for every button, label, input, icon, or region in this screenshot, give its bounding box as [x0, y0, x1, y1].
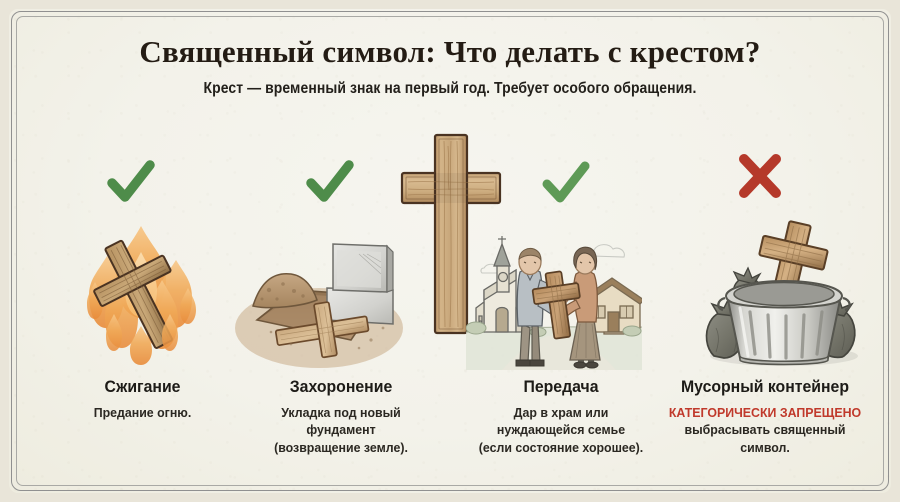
x-mark-icon [733, 150, 787, 202]
option-body: Предание огню. [47, 404, 238, 422]
trash-can-icon [692, 216, 868, 370]
option-heading: Передача [463, 378, 658, 397]
poster-header: Священный символ: Что делать с крестом? … [0, 36, 900, 98]
option-caption-handover: Передача Дар в храм или нуждающейся семь… [456, 378, 666, 457]
option-body: Дар в храм или нуждающейся семье (если с… [463, 404, 658, 457]
caption-line: выбрасывать священный [684, 422, 845, 437]
burning-cross-icon [62, 218, 220, 368]
check-icon [303, 156, 357, 208]
caption-line: Укладка под новый [281, 405, 401, 420]
infographic-poster: Священный символ: Что делать с крестом? … [0, 0, 900, 502]
caption-line: фундамент [306, 422, 375, 437]
prohibition-warning: КАТЕГОРИЧЕСКИ ЗАПРЕЩЕНО [658, 404, 872, 422]
caption-line: Дар в храм или [514, 405, 609, 420]
cross-handover-icon [466, 228, 642, 370]
page-subtitle: Крест — временный знак на первый год. Тр… [45, 80, 855, 98]
option-body: Укладка под новый фундамент (возвращение… [243, 404, 438, 457]
page-title: Священный символ: Что делать с крестом? [0, 36, 900, 67]
option-caption-trash: Мусорный контейнер КАТЕГОРИЧЕСКИ ЗАПРЕЩЕ… [650, 378, 880, 457]
caption-line: (если состояние хорошее). [479, 440, 643, 455]
option-heading: Сжигание [47, 378, 238, 397]
check-icon [539, 157, 593, 209]
caption-line: (возвращение земле). [274, 440, 408, 455]
grave-burial-icon [231, 228, 403, 370]
caption-line: символ. [740, 440, 790, 455]
option-body: КАТЕГОРИЧЕСКИ ЗАПРЕЩЕНО выбрасывать свящ… [658, 404, 872, 457]
caption-line: нуждающейся семье [497, 422, 625, 437]
caption-line: Предание огню. [94, 405, 192, 420]
option-caption-burning: Сжигание Предание огню. [40, 378, 245, 421]
option-heading: Захоронение [243, 378, 438, 397]
option-caption-burial: Захоронение Укладка под новый фундамент … [236, 378, 446, 457]
option-heading: Мусорный контейнер [658, 378, 872, 397]
check-icon [104, 156, 158, 208]
